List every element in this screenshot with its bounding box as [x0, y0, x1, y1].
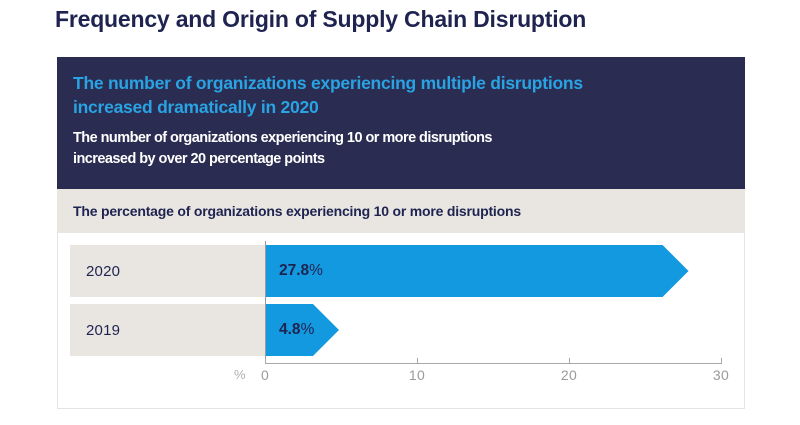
category-label-text: 2020: [86, 263, 120, 280]
category-label-2019: 2019: [70, 304, 266, 356]
callout-headline: The number of organizations experiencing…: [73, 71, 593, 119]
bar-2020: [266, 245, 689, 297]
bar-value-label-2020: 27.8%: [279, 262, 323, 280]
chart-subheader: The percentage of organizations experien…: [57, 189, 745, 233]
x-axis-tick: [721, 358, 722, 364]
chart-subheader-label: The percentage of organizations experien…: [73, 203, 521, 219]
callout-banner: The number of organizations experiencing…: [57, 57, 745, 189]
x-axis-tick: [569, 358, 570, 364]
chart-panel: 2020 2019 27.8% 4.8% 0102030 %: [57, 233, 745, 409]
callout-subtext: The number of organizations experiencing…: [73, 128, 543, 169]
x-axis-tick-label: 0: [261, 367, 269, 383]
x-axis-tick: [265, 358, 266, 364]
bar-value-label-2019: 4.8%: [279, 321, 314, 339]
category-label-2020: 2020: [70, 245, 266, 297]
x-axis-unit-label: %: [234, 367, 246, 382]
x-axis-tick-label: 30: [713, 367, 729, 383]
x-axis-tick: [417, 358, 418, 364]
category-label-text: 2019: [86, 322, 120, 339]
x-axis-tick-label: 20: [561, 367, 577, 383]
x-axis-tick-label: 10: [409, 367, 425, 383]
page-title: Frequency and Origin of Supply Chain Dis…: [55, 6, 586, 33]
x-axis-line: [265, 363, 721, 364]
zero-gridline: [265, 241, 266, 363]
bar-chart-plot: 2020 2019 27.8% 4.8% 0102030 %: [58, 233, 746, 409]
